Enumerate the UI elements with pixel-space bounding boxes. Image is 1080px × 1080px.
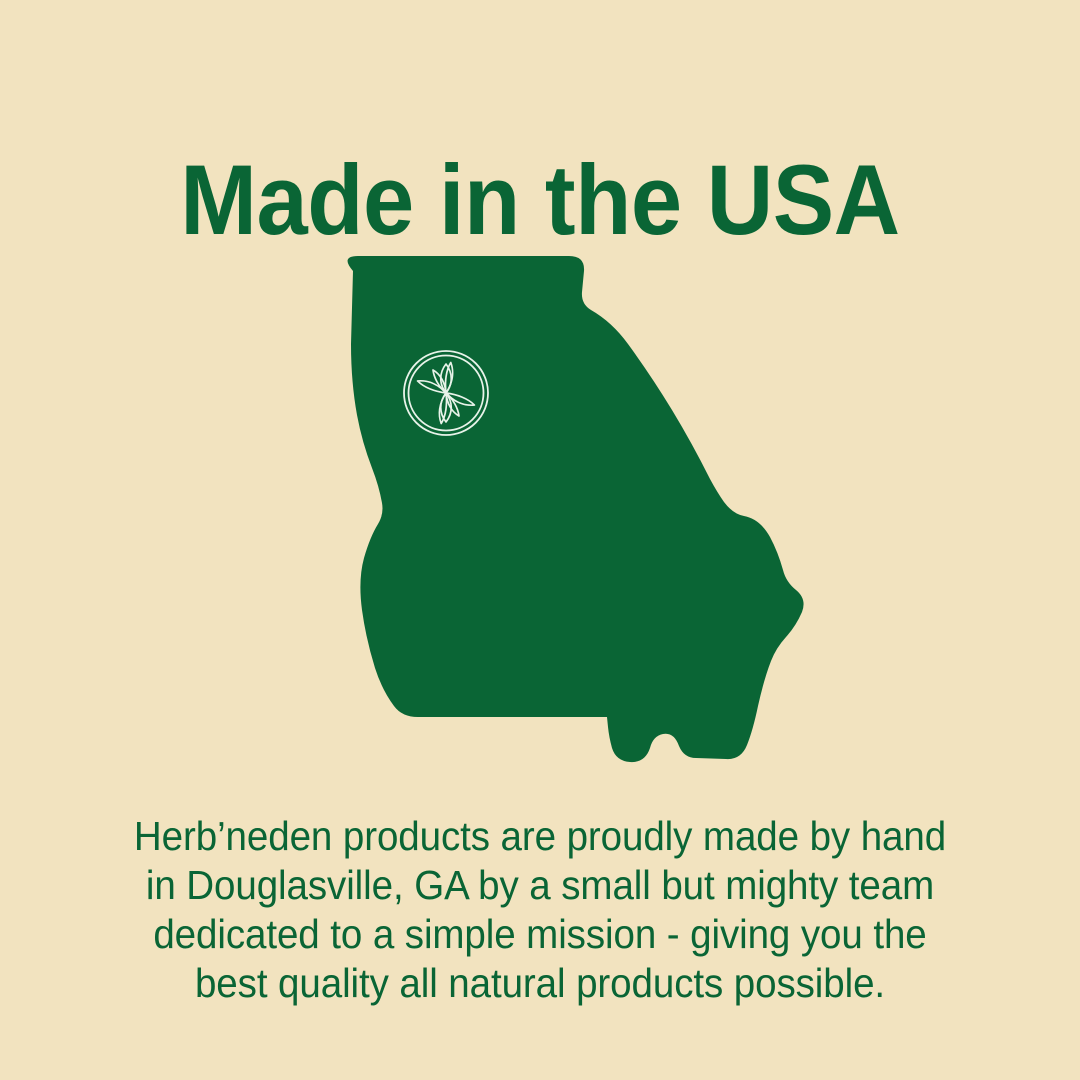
description-line-2: in Douglasville, GA by a small but might… <box>108 861 973 910</box>
made-in-usa-poster: Made in the USA <box>0 0 1080 1080</box>
description-line-4: best quality all natural products possib… <box>108 959 973 1008</box>
georgia-map-svg <box>320 240 820 775</box>
georgia-state-shape <box>348 256 804 762</box>
georgia-map-graphic <box>320 240 820 775</box>
description-line-1: Herb’neden products are proudly made by … <box>108 812 973 861</box>
description-line-3: dedicated to a simple mission - giving y… <box>108 910 973 959</box>
page-title: Made in the USA <box>38 150 1042 249</box>
description-paragraph: Herb’neden products are proudly made by … <box>80 812 1000 1008</box>
